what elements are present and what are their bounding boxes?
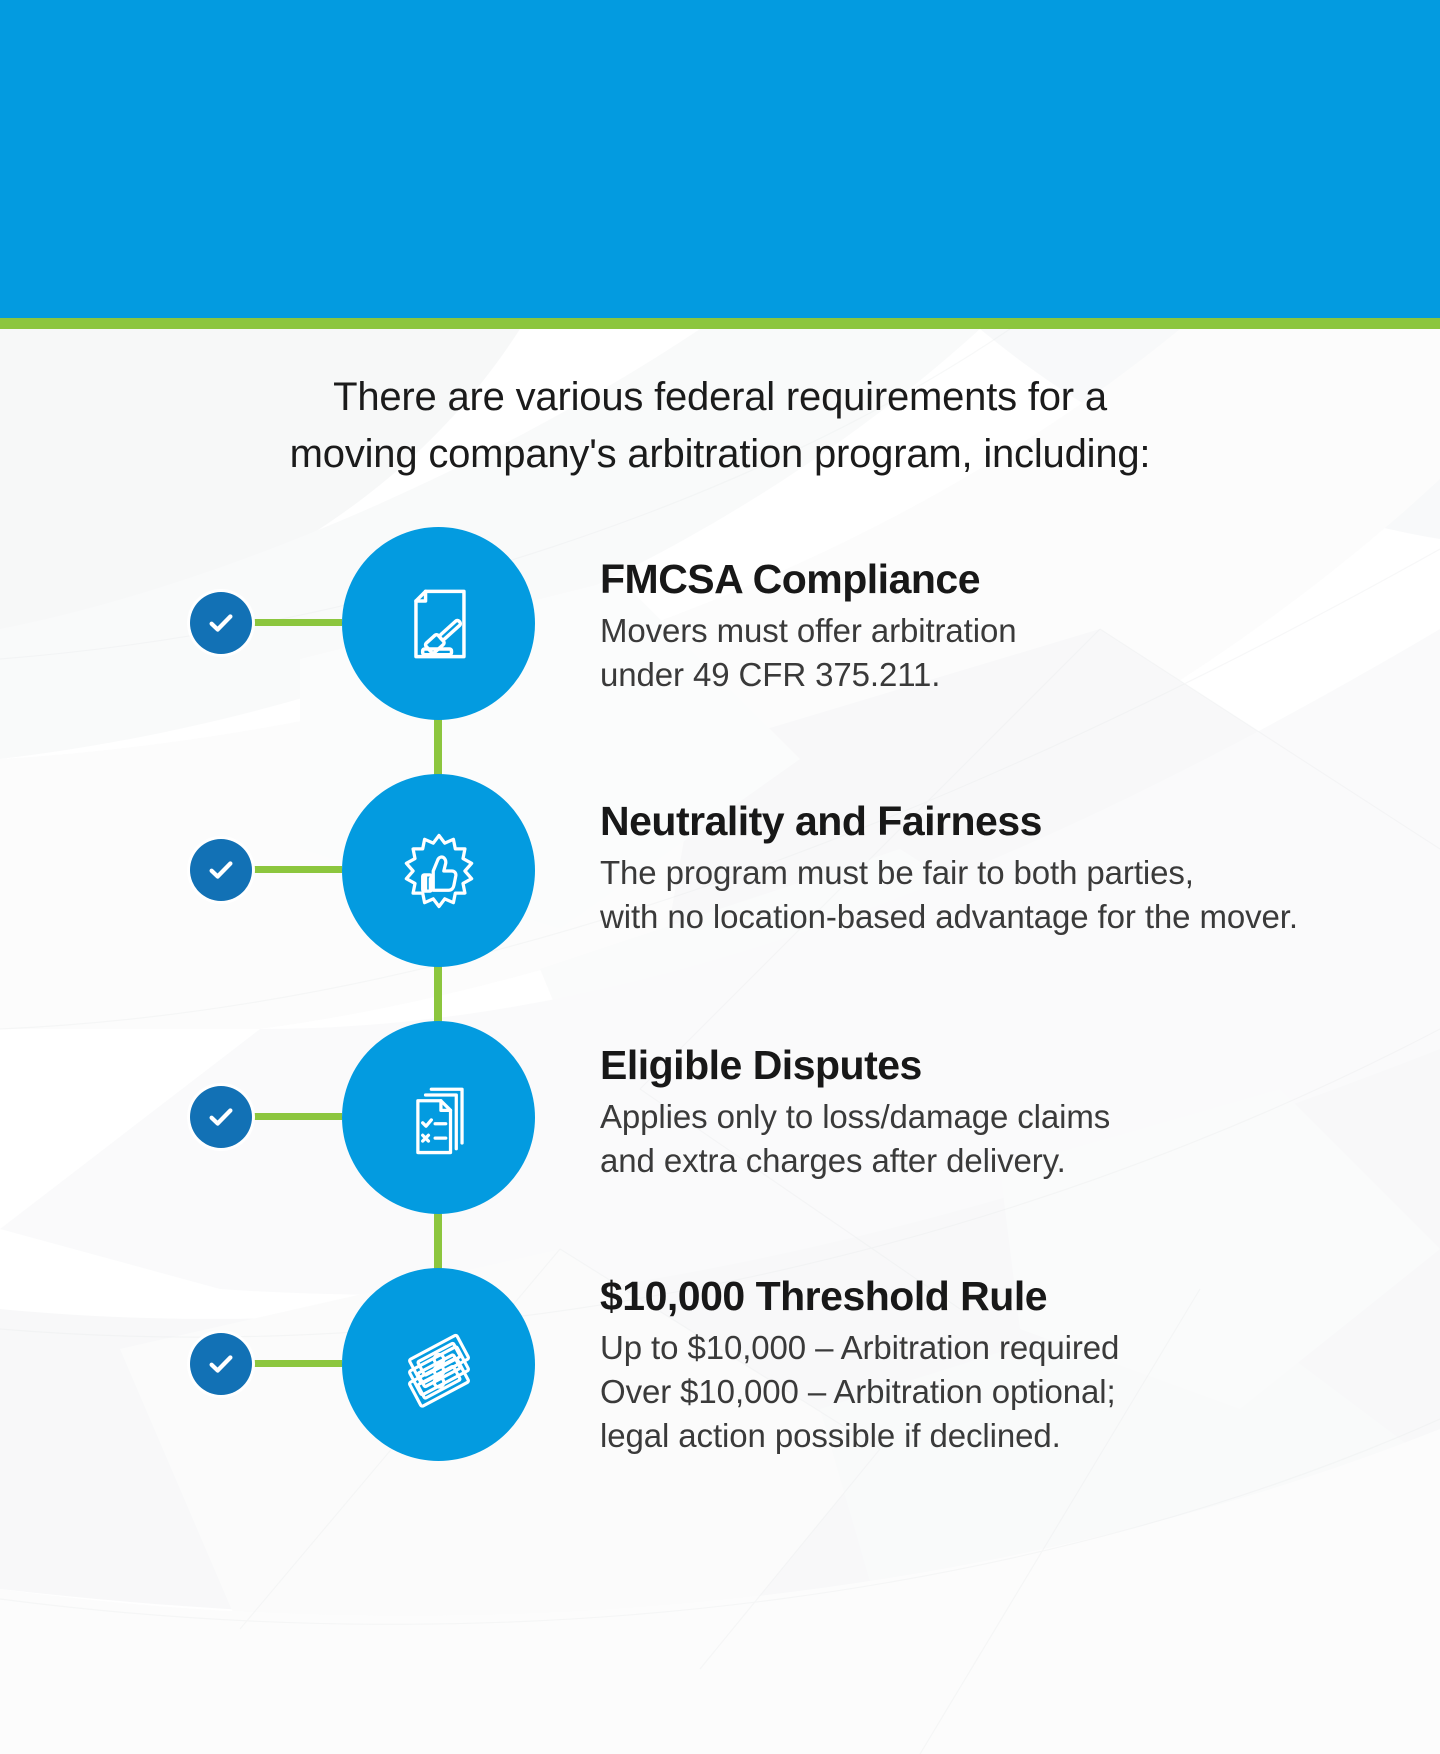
row-desc-3-line-1: Applies only to loss/damage claims — [600, 1095, 1360, 1139]
content-area: There are various federal requirements f… — [0, 329, 1440, 1754]
row-desc-4-line-3: legal action possible if declined. — [600, 1414, 1360, 1458]
row-desc-1-line-2: under 49 CFR 375.211. — [600, 653, 1360, 697]
icon-circle-1 — [342, 527, 535, 720]
row-desc-3-line-2: and extra charges after delivery. — [600, 1139, 1360, 1183]
checklist-clipboard-icon — [391, 1070, 487, 1166]
row-title-4: $10,000 Threshold Rule — [600, 1274, 1360, 1320]
icon-circle-2 — [342, 774, 535, 967]
row-desc-4-line-2: Over $10,000 – Arbitration optional; — [600, 1370, 1360, 1414]
check-badge-4 — [190, 1333, 252, 1395]
thumbs-up-burst-icon — [391, 823, 487, 919]
row-desc-2: The program must be fair to both parties… — [600, 851, 1360, 939]
cash-stack-icon — [391, 1317, 487, 1413]
document-gavel-icon — [391, 576, 487, 672]
row-title-3: Eligible Disputes — [600, 1043, 1360, 1089]
infographic-root: Arbitration Requirements — [0, 0, 1440, 1754]
row-desc-1: Movers must offer arbitration under 49 C… — [600, 609, 1360, 697]
row-desc-4: Up to $10,000 – Arbitration required Ove… — [600, 1326, 1360, 1458]
check-icon — [206, 855, 236, 885]
row-desc-3: Applies only to loss/damage claims and e… — [600, 1095, 1360, 1183]
row-text-1: FMCSA Compliance Movers must offer arbit… — [600, 557, 1360, 697]
row-text-2: Neutrality and Fairness The program must… — [600, 799, 1360, 939]
check-icon — [206, 1349, 236, 1379]
row-title-2: Neutrality and Fairness — [600, 799, 1360, 845]
row-title-1: FMCSA Compliance — [600, 557, 1360, 603]
row-desc-2-line-1: The program must be fair to both parties… — [600, 851, 1360, 895]
check-icon — [206, 608, 236, 638]
check-badge-2 — [190, 839, 252, 901]
row-text-3: Eligible Disputes Applies only to loss/d… — [600, 1043, 1360, 1183]
check-icon — [206, 1102, 236, 1132]
row-desc-2-line-2: with no location-based advantage for the… — [600, 895, 1360, 939]
header-green-rule — [0, 318, 1440, 329]
header-band — [0, 0, 1440, 318]
row-desc-1-line-1: Movers must offer arbitration — [600, 609, 1360, 653]
icon-circle-4 — [342, 1268, 535, 1461]
check-badge-3 — [190, 1086, 252, 1148]
icon-circle-3 — [342, 1021, 535, 1214]
check-badge-1 — [190, 592, 252, 654]
row-text-4: $10,000 Threshold Rule Up to $10,000 – A… — [600, 1274, 1360, 1458]
row-desc-4-line-1: Up to $10,000 – Arbitration required — [600, 1326, 1360, 1370]
